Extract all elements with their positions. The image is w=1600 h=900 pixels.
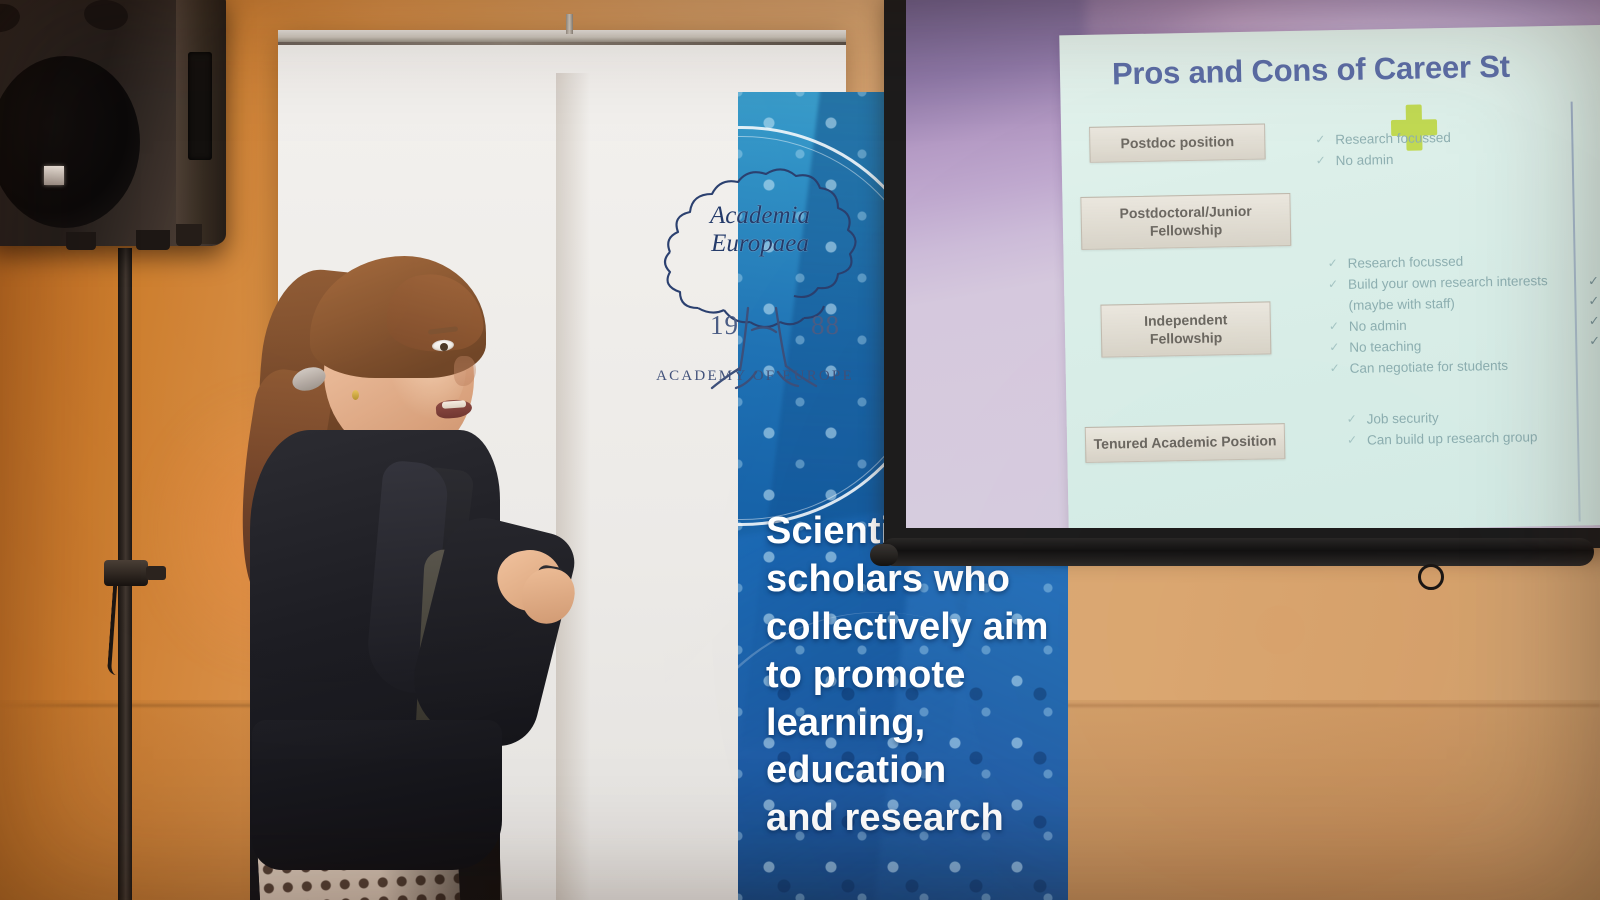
logo-year-left: 19 bbox=[710, 310, 739, 341]
banner-tagline-line: and research bbox=[766, 795, 1086, 843]
screen-bottom-bar[interactable] bbox=[880, 538, 1594, 566]
pupil bbox=[440, 343, 448, 351]
banner-tagline-line: collectively aim bbox=[766, 604, 1086, 652]
speaker-stand-collar bbox=[104, 560, 148, 586]
screen-pull-hook[interactable] bbox=[1418, 564, 1444, 590]
earring bbox=[352, 390, 359, 400]
speaker-stand-knob[interactable] bbox=[146, 566, 166, 580]
stage-label-independent-fellowship: Independent Fellowship bbox=[1100, 301, 1271, 357]
pros-item: Can negotiate for students bbox=[1328, 354, 1578, 380]
pros-list-tenured-academic: Job security Can build up research group bbox=[1344, 406, 1575, 452]
logo-year-right: 88 bbox=[811, 310, 840, 341]
pros-item: No admin bbox=[1314, 147, 1564, 173]
tree-logo-icon bbox=[640, 140, 890, 390]
pa-speaker bbox=[0, 0, 226, 246]
logo-subtitle: ACADEMY OF EUROPE bbox=[630, 368, 880, 385]
projected-slide: Pros and Cons of Career St ✓✓✓✓ Postdoc … bbox=[906, 0, 1600, 528]
presentation-room-photo: Academia Europaea 19 88 ACADEMY OF EUROP… bbox=[0, 0, 1600, 900]
speaker-badge bbox=[44, 166, 64, 185]
academia-europaea-logo: Academia Europaea 19 88 ACADEMY OF EUROP… bbox=[630, 140, 920, 470]
banner-tagline-line: education bbox=[766, 747, 1086, 795]
speaker-port-left bbox=[0, 1, 22, 34]
pros-list-independent-fellowship: Research focussed Build your own researc… bbox=[1326, 250, 1578, 380]
pros-item: Can build up research group bbox=[1345, 427, 1575, 452]
stage-label-tenured-academic-position: Tenured Academic Position bbox=[1085, 423, 1286, 462]
speaker-port-right bbox=[83, 0, 130, 32]
slide-title: Pros and Cons of Career St bbox=[1112, 49, 1511, 93]
speaker-grille bbox=[0, 56, 140, 228]
speaker-foot bbox=[66, 232, 96, 250]
slide-content-card: Pros and Cons of Career St ✓✓✓✓ Postdoc … bbox=[1059, 25, 1600, 528]
banner-tagline-line: to promote bbox=[766, 652, 1086, 700]
stage-label-postdoctoral-junior-fellowship: Postdoctoral/Junior Fellowship bbox=[1080, 193, 1291, 250]
banner-rail-seam bbox=[278, 42, 846, 45]
banner-tagline-line: learning, bbox=[766, 700, 1086, 748]
logo-line-1: Academia bbox=[670, 202, 850, 230]
pros-list-postdoc: Research focussed No admin bbox=[1313, 126, 1564, 173]
projection-screen: Pros and Cons of Career St ✓✓✓✓ Postdoc … bbox=[884, 0, 1600, 582]
stage-label-postdoc: Postdoc position bbox=[1089, 123, 1266, 162]
speaker-handle[interactable] bbox=[188, 52, 212, 160]
pros-item: Build your own research interests (maybe… bbox=[1326, 270, 1577, 317]
banner-hanging-pole bbox=[566, 14, 573, 34]
speaker-foot bbox=[176, 224, 202, 246]
logo-line-2: Europaea bbox=[670, 230, 850, 258]
screen-surface: Pros and Cons of Career St ✓✓✓✓ Postdoc … bbox=[906, 0, 1600, 528]
screen-border: Pros and Cons of Career St ✓✓✓✓ Postdoc … bbox=[884, 0, 1600, 548]
jacket-hem bbox=[252, 720, 502, 870]
logo-year: 19 88 bbox=[710, 310, 840, 341]
speaker-foot bbox=[136, 230, 170, 250]
screen-bar-end-cap bbox=[870, 544, 898, 566]
cons-column-checks: ✓✓✓✓ bbox=[1588, 271, 1600, 352]
presenter bbox=[236, 250, 596, 900]
logo-wordmark: Academia Europaea bbox=[670, 202, 850, 258]
